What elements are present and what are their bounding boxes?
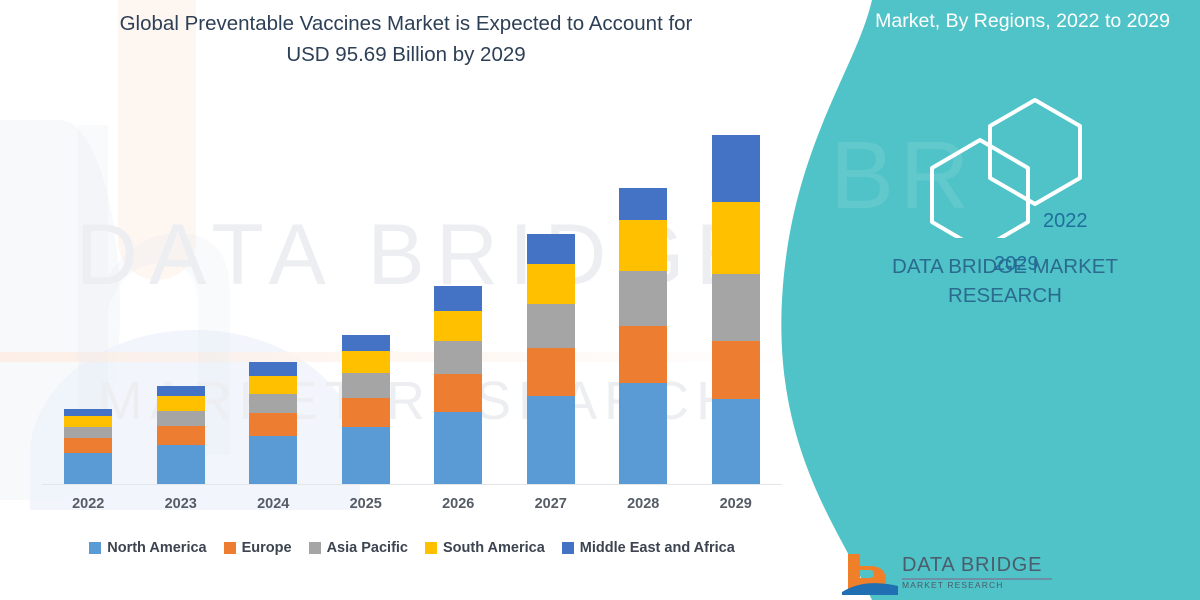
legend-label: South America	[443, 540, 545, 556]
plot-area: 20222023202420252026202720282029 North A…	[0, 0, 840, 540]
bar-slot	[135, 110, 228, 484]
bar-segment[interactable]	[434, 286, 482, 311]
bar-segment[interactable]	[342, 373, 390, 398]
bar-segment[interactable]	[619, 271, 667, 326]
x-axis-line	[42, 484, 782, 485]
bar-segment[interactable]	[619, 188, 667, 220]
bar-segment[interactable]	[249, 413, 297, 436]
legend-swatch	[224, 542, 236, 554]
stacked-bar[interactable]	[157, 386, 205, 484]
bar-segment[interactable]	[157, 426, 205, 445]
bar-segment[interactable]	[619, 326, 667, 383]
bar-segment[interactable]	[157, 396, 205, 411]
bar-segment[interactable]	[619, 220, 667, 271]
bar-segment[interactable]	[249, 362, 297, 376]
legend-label: Middle East and Africa	[580, 540, 735, 556]
stacked-bar[interactable]	[64, 409, 112, 484]
bar-segment[interactable]	[527, 264, 575, 303]
chart-canvas: DATA BRIDGE MARKET RESEARCH Global Preve…	[0, 0, 1200, 600]
legend-label: Europe	[242, 540, 292, 556]
bar-segment[interactable]	[64, 409, 112, 416]
bar-slot	[597, 110, 690, 484]
bar-segment[interactable]	[157, 445, 205, 484]
x-axis-label: 2026	[412, 496, 505, 512]
bar-segment[interactable]	[64, 453, 112, 484]
bar-segment[interactable]	[434, 311, 482, 341]
x-axis-label: 2024	[227, 496, 320, 512]
bar-segment[interactable]	[712, 274, 760, 341]
x-axis-labels: 20222023202420252026202720282029	[42, 496, 782, 512]
bar-segment[interactable]	[712, 135, 760, 202]
bar-segment[interactable]	[342, 351, 390, 373]
legend-label: North America	[107, 540, 206, 556]
footer-logo-subtext: MARKET RESEARCH	[902, 580, 1003, 590]
bar-group	[42, 110, 782, 484]
x-axis-label: 2025	[320, 496, 413, 512]
right-panel-brand-line-2: RESEARCH	[850, 281, 1160, 310]
bar-segment[interactable]	[249, 376, 297, 394]
bar-slot	[227, 110, 320, 484]
legend-item[interactable]: Europe	[224, 540, 292, 556]
hexagon-icons	[920, 88, 1140, 238]
hexagon-label-2022: 2022	[1043, 210, 1088, 233]
bar-slot	[320, 110, 413, 484]
bar-segment[interactable]	[249, 436, 297, 484]
stacked-bar[interactable]	[712, 135, 760, 484]
stacked-bar[interactable]	[619, 188, 667, 484]
hexagon-group: 2022 2029	[920, 88, 1140, 238]
bridge-logo-icon	[840, 552, 900, 598]
bar-segment[interactable]	[64, 438, 112, 453]
bar-segment[interactable]	[527, 304, 575, 348]
x-axis-label: 2027	[505, 496, 598, 512]
bar-segment[interactable]	[157, 411, 205, 426]
bar-segment[interactable]	[527, 396, 575, 484]
legend-item[interactable]: North America	[89, 540, 206, 556]
right-panel-heading: Market, By Regions, 2022 to 2029	[840, 6, 1170, 36]
bar-segment[interactable]	[434, 374, 482, 412]
bar-segment[interactable]	[342, 335, 390, 351]
x-axis-label: 2023	[135, 496, 228, 512]
right-panel-brand-line-1: DATA BRIDGE MARKET	[850, 252, 1160, 281]
legend-item[interactable]: South America	[425, 540, 545, 556]
x-axis-label: 2022	[42, 496, 135, 512]
bar-segment[interactable]	[712, 341, 760, 399]
bar-slot	[412, 110, 505, 484]
bar-segment[interactable]	[712, 202, 760, 274]
legend-swatch	[309, 542, 321, 554]
legend-item[interactable]: Middle East and Africa	[562, 540, 735, 556]
bar-segment[interactable]	[527, 348, 575, 396]
legend-label: Asia Pacific	[327, 540, 408, 556]
x-axis-label: 2028	[597, 496, 690, 512]
legend-swatch	[89, 542, 101, 554]
right-panel-brand: DATA BRIDGE MARKET RESEARCH	[850, 252, 1160, 310]
bar-segment[interactable]	[619, 383, 667, 484]
stacked-bar[interactable]	[527, 234, 575, 484]
legend-swatch	[425, 542, 437, 554]
bar-segment[interactable]	[249, 394, 297, 413]
stacked-bar[interactable]	[342, 335, 390, 484]
right-panel: BR Market, By Regions, 2022 to 2029 2022…	[760, 0, 1200, 600]
footer-logo-text: DATA BRIDGE	[902, 554, 1042, 577]
bar-segment[interactable]	[434, 412, 482, 484]
legend-item[interactable]: Asia Pacific	[309, 540, 408, 556]
bar-segment[interactable]	[527, 234, 575, 264]
legend-swatch	[562, 542, 574, 554]
bar-segment[interactable]	[712, 399, 760, 484]
bar-slot	[505, 110, 598, 484]
hexagon-2029-icon	[932, 140, 1028, 238]
bar-segment[interactable]	[64, 416, 112, 427]
footer-logo: DATA BRIDGE MARKET RESEARCH	[840, 552, 1170, 600]
chart-legend: North AmericaEuropeAsia PacificSouth Ame…	[42, 540, 782, 556]
stacked-bar[interactable]	[249, 362, 297, 484]
bar-segment[interactable]	[342, 427, 390, 484]
bar-segment[interactable]	[157, 386, 205, 396]
stacked-bar[interactable]	[434, 286, 482, 484]
bar-segment[interactable]	[434, 341, 482, 374]
bar-segment[interactable]	[64, 427, 112, 438]
bar-slot	[42, 110, 135, 484]
bar-segment[interactable]	[342, 398, 390, 427]
